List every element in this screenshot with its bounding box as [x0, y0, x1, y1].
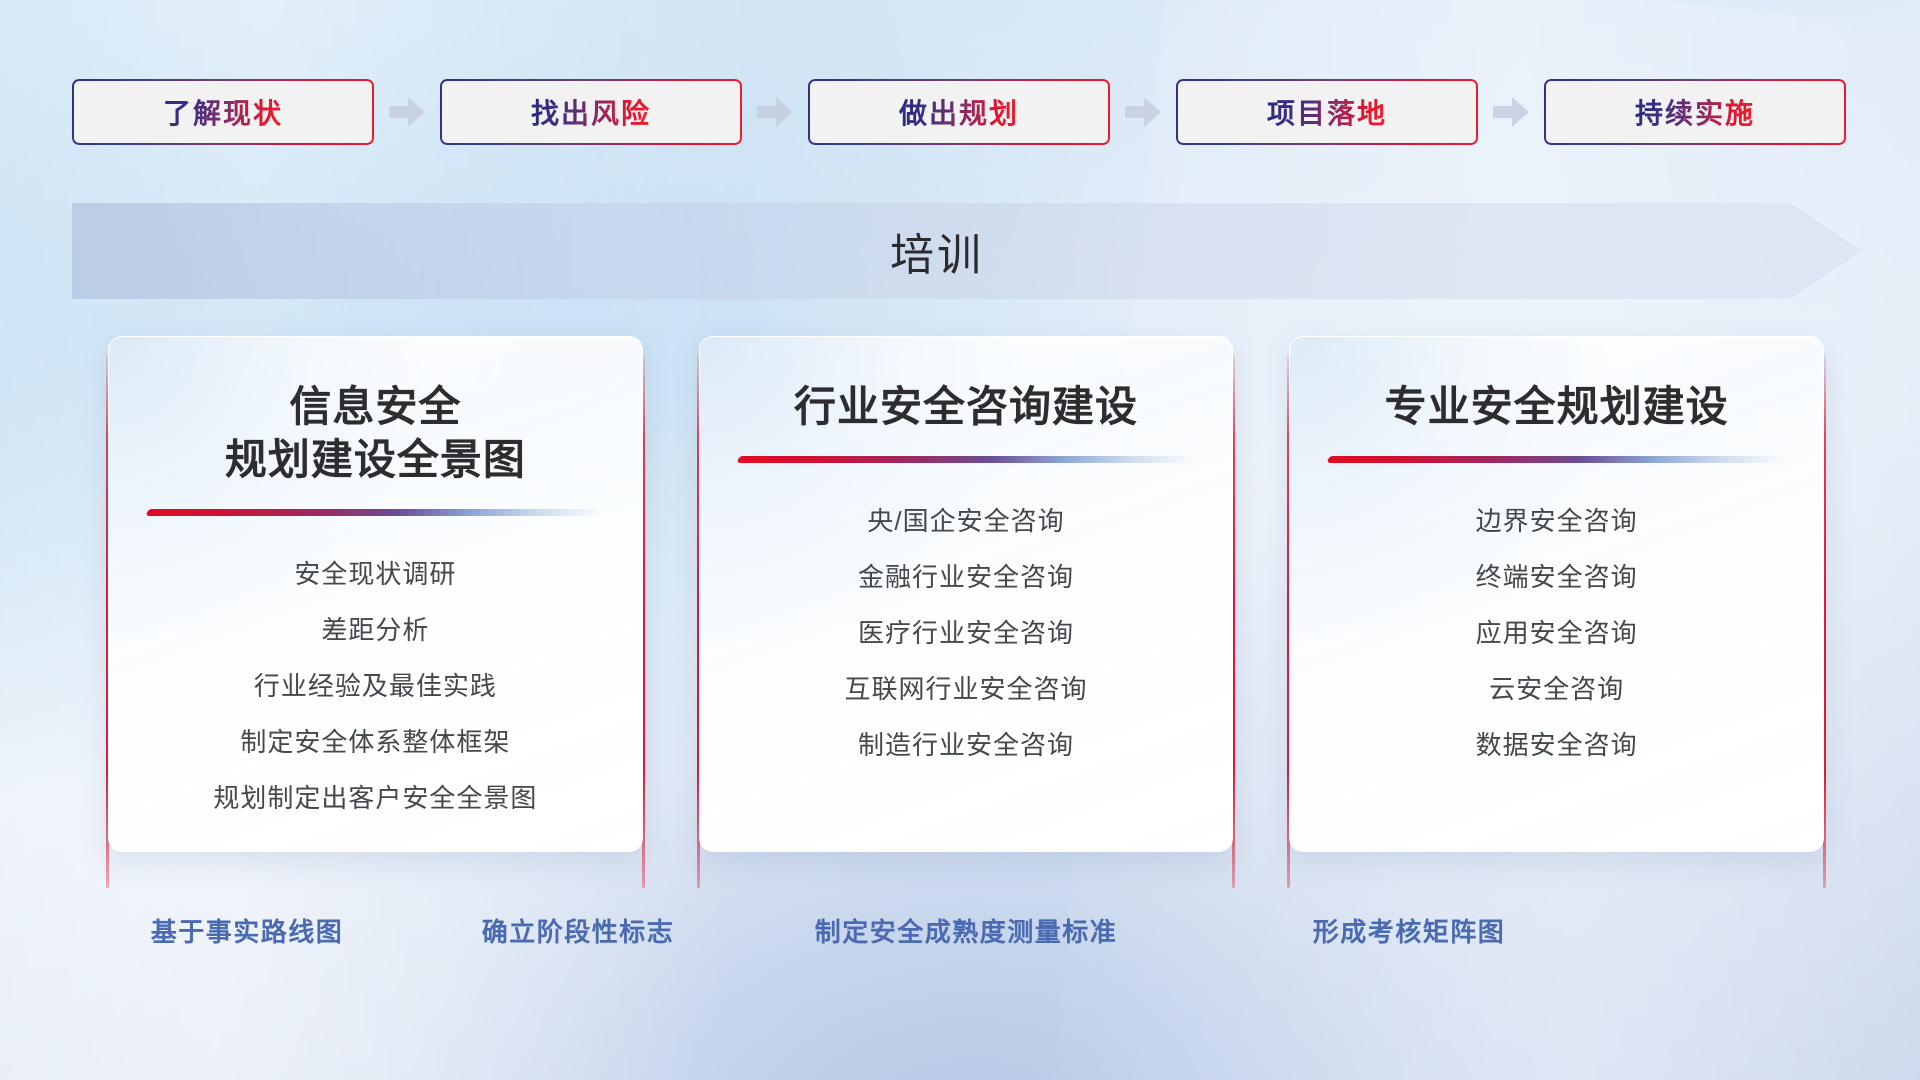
footer-label-row: 基于事实路线图确立阶段性标志制定安全成熟度测量标准形成考核矩阵图	[0, 912, 1920, 958]
process-step-label: 项目落地	[1267, 92, 1387, 132]
list-item[interactable]: 终端安全咨询	[1324, 549, 1789, 605]
process-step-1[interactable]: 了解现状	[72, 79, 374, 145]
card-row: 信息安全 规划建设全景图安全现状调研差距分析行业经验及最佳实践制定安全体系整体框…	[108, 336, 1824, 876]
slide-canvas: 了解现状找出风险做出规划项目落地持续实施 培训 信息安全 规划建设全景图安全现状…	[0, 0, 1920, 1080]
arrow-right-icon	[742, 97, 808, 127]
list-item[interactable]: 互联网行业安全咨询	[734, 661, 1199, 717]
process-step-5[interactable]: 持续实施	[1544, 79, 1846, 145]
card-title: 专业安全规划建设	[1324, 381, 1789, 434]
list-item[interactable]: 安全现状调研	[143, 546, 608, 602]
process-step-label: 做出规划	[899, 92, 1019, 132]
card-2: 行业安全咨询建设央/国企安全咨询金融行业安全咨询医疗行业安全咨询互联网行业安全咨…	[699, 336, 1234, 876]
footer-label-4: 形成考核矩阵图	[1313, 912, 1506, 949]
process-step-label: 持续实施	[1635, 92, 1755, 132]
arrow-right-icon	[374, 97, 440, 127]
footer-label-1: 基于事实路线图	[151, 912, 344, 949]
list-item[interactable]: 数据安全咨询	[1324, 717, 1789, 773]
card-title: 行业安全咨询建设	[734, 381, 1199, 434]
footer-label-2: 确立阶段性标志	[482, 912, 675, 949]
list-item[interactable]: 规划制定出客户安全全景图	[143, 770, 608, 826]
list-item[interactable]: 制造行业安全咨询	[734, 717, 1199, 773]
card-divider	[1327, 456, 1787, 463]
process-step-row: 了解现状找出风险做出规划项目落地持续实施	[72, 78, 1862, 146]
card-1: 信息安全 规划建设全景图安全现状调研差距分析行业经验及最佳实践制定安全体系整体框…	[108, 336, 643, 876]
card-divider	[146, 509, 606, 516]
card-panel[interactable]: 行业安全咨询建设央/国企安全咨询金融行业安全咨询医疗行业安全咨询互联网行业安全咨…	[699, 336, 1234, 852]
card-panel[interactable]: 信息安全 规划建设全景图安全现状调研差距分析行业经验及最佳实践制定安全体系整体框…	[108, 336, 643, 852]
list-item[interactable]: 行业经验及最佳实践	[143, 658, 608, 714]
process-step-4[interactable]: 项目落地	[1176, 79, 1478, 145]
list-item[interactable]: 云安全咨询	[1324, 661, 1789, 717]
card-panel[interactable]: 专业安全规划建设边界安全咨询终端安全咨询应用安全咨询云安全咨询数据安全咨询	[1289, 336, 1824, 852]
list-item[interactable]: 金融行业安全咨询	[734, 549, 1199, 605]
list-item[interactable]: 差距分析	[143, 602, 608, 658]
process-step-3[interactable]: 做出规划	[808, 79, 1110, 145]
training-banner: 培训	[72, 203, 1862, 299]
card-divider	[736, 456, 1196, 463]
banner-label: 培训	[72, 203, 1862, 299]
list-item[interactable]: 制定安全体系整体框架	[143, 714, 608, 770]
list-item[interactable]: 应用安全咨询	[1324, 605, 1789, 661]
card-title: 信息安全 规划建设全景图	[143, 381, 608, 487]
process-step-2[interactable]: 找出风险	[440, 79, 742, 145]
arrow-right-icon	[1110, 97, 1176, 127]
process-step-label: 找出风险	[531, 92, 651, 132]
list-item[interactable]: 央/国企安全咨询	[734, 493, 1199, 549]
card-item-list: 边界安全咨询终端安全咨询应用安全咨询云安全咨询数据安全咨询	[1324, 463, 1789, 773]
card-item-list: 央/国企安全咨询金融行业安全咨询医疗行业安全咨询互联网行业安全咨询制造行业安全咨…	[734, 463, 1199, 773]
arrow-right-icon	[1478, 97, 1544, 127]
process-step-label: 了解现状	[163, 92, 283, 132]
list-item[interactable]: 医疗行业安全咨询	[734, 605, 1199, 661]
footer-label-3: 制定安全成熟度测量标准	[815, 912, 1118, 949]
card-3: 专业安全规划建设边界安全咨询终端安全咨询应用安全咨询云安全咨询数据安全咨询	[1289, 336, 1824, 876]
list-item[interactable]: 边界安全咨询	[1324, 493, 1789, 549]
card-item-list: 安全现状调研差距分析行业经验及最佳实践制定安全体系整体框架规划制定出客户安全全景…	[143, 516, 608, 826]
